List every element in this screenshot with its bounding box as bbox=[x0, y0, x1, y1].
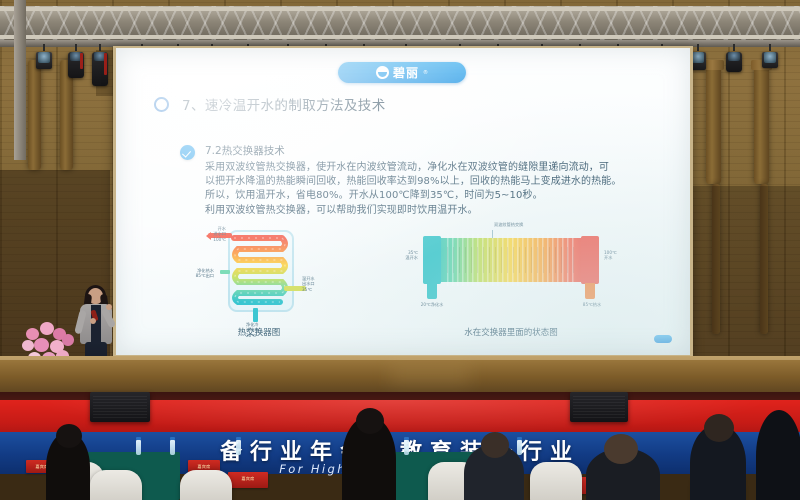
audience-member-head bbox=[356, 408, 384, 434]
audience-member bbox=[756, 410, 800, 500]
table-nameplate: 嘉宾席 bbox=[228, 472, 268, 488]
water-bottle bbox=[404, 440, 409, 455]
bottle-cap bbox=[236, 437, 241, 440]
diagram-label-hot-inlet: 开水进水口100℃ bbox=[192, 226, 226, 242]
section-paragraph-line: 以把开水降温的热能瞬间回收，热能回收率达到98%以上，回收的热能马上变成进水的热… bbox=[205, 175, 650, 189]
section-paragraph-line: 利用双波纹管热交换器，可以帮助我们实现即时饮用温开水。 bbox=[205, 204, 650, 218]
bottle-cap bbox=[136, 437, 141, 440]
presentation-slide: 碧丽 ® 7、速冷温开水的制取方法及技术 7.2热交换器技术 采用双波纹管热交换… bbox=[116, 48, 690, 355]
wall-dark-area bbox=[690, 186, 800, 356]
bottle-cap bbox=[517, 437, 522, 440]
audience-member-head bbox=[704, 414, 734, 442]
presenter-hand-right bbox=[106, 304, 112, 310]
presenter-hand-left bbox=[90, 318, 96, 324]
lighting-truss bbox=[0, 6, 800, 40]
stage-monitor-speaker bbox=[90, 392, 150, 422]
truss-vertical-post bbox=[14, 0, 26, 160]
diagram-label-hotwater-bottom: 85℃热水 bbox=[568, 302, 616, 307]
audience-chair bbox=[530, 462, 582, 500]
audience-member-head bbox=[481, 432, 509, 458]
water-drop-logo-icon bbox=[376, 66, 389, 79]
inner-tube-pattern bbox=[447, 247, 575, 273]
coil-tube-graphic bbox=[230, 232, 290, 308]
stage-monitor-speaker bbox=[570, 392, 628, 422]
truss-top-chord bbox=[0, 7, 800, 11]
cold-end-block bbox=[423, 236, 441, 284]
section-paragraph-line: 采用双波纹管热交换器，使开水在内波纹管流动，净化水在双波纹管的缝隙里递向流动，可 bbox=[205, 161, 650, 175]
diagram-label-double-tube: 双波纹管热交换 bbox=[494, 222, 558, 227]
slide-title-row: 7、速冷温开水的制取方法及技术 bbox=[154, 94, 386, 114]
bottle-cap bbox=[170, 437, 175, 440]
water-bottle bbox=[236, 440, 241, 455]
slide-page-badge bbox=[654, 335, 672, 343]
section-paragraph-line: 所以，饮用温开水，省电80%。开水从100℃降到35℃，时间为5~10秒。 bbox=[205, 189, 650, 203]
water-bottle bbox=[517, 440, 522, 455]
stage-lamp bbox=[68, 44, 84, 78]
audience-member-head bbox=[56, 424, 82, 448]
purified-outlet-pipe bbox=[220, 270, 230, 274]
water-bottle bbox=[170, 440, 175, 455]
diagram-area: 开水进水口100℃ 净化热水85℃出口 温开水出水口35℃ 净化冷进水口20℃ … bbox=[176, 226, 646, 338]
stage-lamp bbox=[762, 44, 778, 68]
diagram-caption: 热交换器图 bbox=[179, 326, 339, 338]
diagram-label-purified-hot: 净化热水85℃出口 bbox=[180, 268, 214, 279]
diagram-label-warm-left: 35℃温开水 bbox=[376, 250, 418, 261]
diagram-label-warm-outlet: 温开水出水口35℃ bbox=[302, 276, 336, 292]
wall-slat-cap bbox=[703, 60, 724, 70]
section-heading: 7.2热交换器技术 bbox=[205, 143, 650, 158]
cold-inlet-pipe bbox=[253, 308, 258, 322]
circle-bullet-icon bbox=[154, 97, 169, 112]
corrugated-tube bbox=[431, 238, 591, 282]
cold-water-stub bbox=[427, 283, 437, 299]
diagram-caption: 水在交换器里面的状态图 bbox=[431, 326, 591, 338]
diagram-label-purified-bottom: 20℃净化水 bbox=[408, 302, 456, 307]
diagram-label-hot-right: 100℃开水 bbox=[604, 250, 638, 261]
brand-name: 碧丽 bbox=[393, 67, 419, 79]
wall-slat bbox=[706, 66, 721, 184]
label-leader-line bbox=[492, 230, 493, 238]
section-body: 7.2热交换器技术 采用双波纹管热交换器，使开水在内波纹管流动，净化水在双波纹管… bbox=[205, 143, 650, 218]
truss-bottom-chord bbox=[0, 35, 800, 39]
wall-slat bbox=[754, 66, 769, 184]
audience-member-head bbox=[604, 434, 638, 464]
water-bottle bbox=[136, 440, 141, 455]
trademark-symbol: ® bbox=[423, 70, 428, 76]
brand-logo-badge: 碧丽 ® bbox=[338, 62, 466, 83]
audience-chair bbox=[180, 470, 232, 500]
audience-chair bbox=[90, 470, 142, 500]
bottle-cap bbox=[404, 437, 409, 440]
stage-lamp bbox=[726, 44, 742, 72]
projection-screen: 碧丽 ® 7、速冷温开水的制取方法及技术 7.2热交换器技术 采用双波纹管热交换… bbox=[116, 48, 690, 355]
slide-section: 7.2热交换器技术 采用双波纹管热交换器，使开水在内波纹管流动，净化水在双波纹管… bbox=[180, 143, 650, 218]
check-circle-icon bbox=[180, 145, 195, 160]
hot-end-block bbox=[581, 236, 599, 284]
stage-apron-highlight bbox=[0, 356, 800, 360]
conference-hall-scene: 碧丽 ® 7、速冷温开水的制取方法及技术 7.2热交换器技术 采用双波纹管热交换… bbox=[0, 0, 800, 500]
stage-lamp bbox=[36, 44, 52, 69]
slide-title: 7、速冷温开水的制取方法及技术 bbox=[182, 94, 386, 114]
stage-lamp bbox=[92, 44, 108, 86]
hot-water-stub bbox=[585, 283, 595, 299]
wall-slat bbox=[28, 60, 41, 170]
stage-apron-spot bbox=[390, 366, 470, 386]
